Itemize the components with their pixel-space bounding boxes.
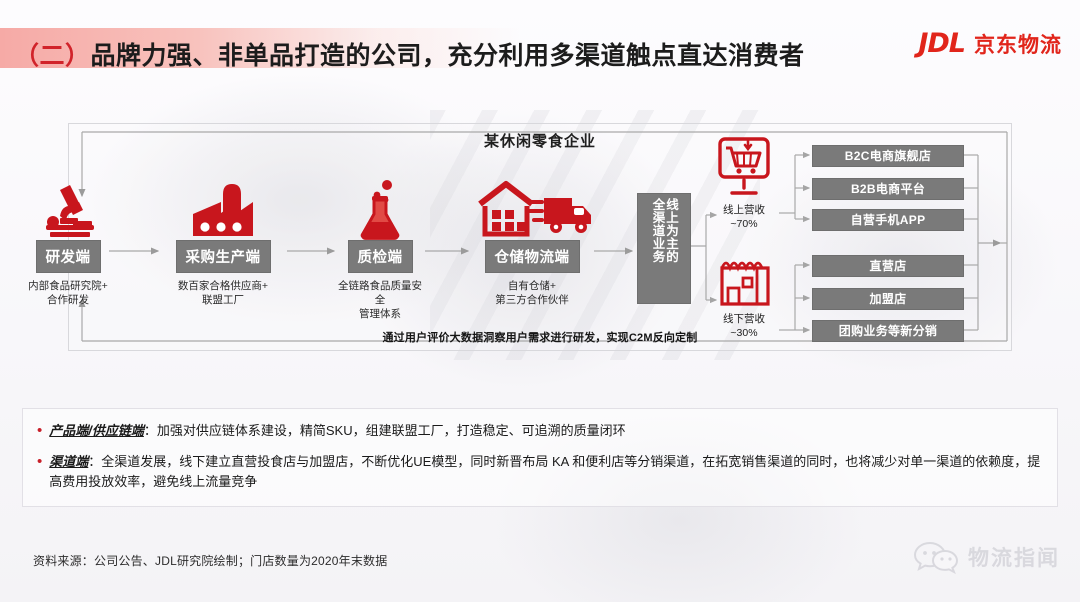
- channel-box-b2b[interactable]: B2B电商平台: [812, 178, 964, 200]
- source-note: 资料来源：公司公告、JDL研究院绘制；门店数量为2020年末数据: [33, 552, 387, 569]
- page-title: （二）品牌力强、非单品打造的公司，充分利用多渠道触点直达消费者: [14, 36, 805, 72]
- stage-rd[interactable]: 研发端 内部食品研究院+ 合作研发: [14, 178, 122, 307]
- omnichannel-col-left: 全渠道业务: [651, 198, 664, 303]
- stage-rd-sub: 内部食品研究院+ 合作研发: [14, 279, 122, 307]
- stage-procurement-label: 采购生产端: [176, 240, 271, 273]
- page-title-text: 品牌力强、非单品打造的公司，充分利用多渠道触点直达消费者: [91, 42, 805, 70]
- channel-box-direct[interactable]: 直营店: [812, 255, 964, 277]
- bullet-body: ：加强对供应链体系建设，精简SKU，组建联盟工厂，打造稳定、可追溯的质量闭环: [144, 423, 626, 438]
- warehouse-truck-icon: [468, 174, 596, 240]
- factory-icon: [158, 178, 288, 240]
- watermark: 物流指闻: [913, 540, 1060, 574]
- bullet-item: • 产品端/供应链端：加强对供应链体系建设，精简SKU，组建联盟工厂，打造稳定、…: [37, 421, 1043, 441]
- bullet-lead: 产品端/供应链端: [49, 423, 144, 438]
- bullet-lead: 渠道端: [49, 454, 88, 469]
- stage-procurement-sub: 数百家合格供应商+ 联盟工厂: [158, 279, 288, 307]
- channel-box-franchise[interactable]: 加盟店: [812, 288, 964, 310]
- bullet-body: ：全渠道发展，线下建立直营投食店与加盟店，不断优化UE模型，同时新晋布局 KA …: [49, 454, 1040, 489]
- flask-icon: [334, 178, 426, 240]
- jdl-logo-name: 京东物流: [974, 29, 1062, 59]
- bullet-dot-icon: •: [37, 421, 42, 441]
- stage-rd-label: 研发端: [36, 240, 101, 273]
- stage-qc[interactable]: 质检端 全链路食品质量安全 管理体系: [334, 178, 426, 322]
- stage-logistics-label: 仓储物流端: [485, 240, 580, 273]
- omnichannel-col-right: 线上为主的: [665, 198, 678, 303]
- online-cart-monitor-icon: [714, 136, 774, 203]
- stage-logistics-sub: 自有仓储+ 第三方合作伙伴: [468, 279, 596, 307]
- microscope-icon: [14, 178, 122, 240]
- insights-panel: • 产品端/供应链端：加强对供应链体系建设，精简SKU，组建联盟工厂，打造稳定、…: [22, 408, 1058, 507]
- bullet-text: 产品端/供应链端：加强对供应链体系建设，精简SKU，组建联盟工厂，打造稳定、可追…: [49, 421, 625, 441]
- online-revenue-label: 线上营收 ~70%: [707, 203, 781, 231]
- bullet-dot-icon: •: [37, 452, 42, 492]
- online-revenue-text: 线上营收: [707, 203, 781, 217]
- omnichannel-block[interactable]: 线上为主的 全渠道业务: [637, 193, 691, 304]
- bullet-item: • 渠道端：全渠道发展，线下建立直营投食店与加盟店，不断优化UE模型，同时新晋布…: [37, 452, 1043, 492]
- jdl-logo-mark: JDL: [918, 28, 965, 59]
- channel-box-b2c[interactable]: B2C电商旗舰店: [812, 145, 964, 167]
- online-revenue-value: ~70%: [707, 217, 781, 231]
- jdl-logo: JDL 京东物流: [918, 28, 1062, 59]
- watermark-text: 物流指闻: [968, 542, 1060, 572]
- wechat-icon: [913, 540, 959, 574]
- stage-procurement[interactable]: 采购生产端 数百家合格供应商+ 联盟工厂: [158, 178, 288, 307]
- page-title-number: （二）: [14, 42, 91, 70]
- stage-qc-label: 质检端: [348, 240, 413, 273]
- channel-box-app[interactable]: 自营手机APP: [812, 209, 964, 231]
- bullet-text: 渠道端：全渠道发展，线下建立直营投食店与加盟店，不断优化UE模型，同时新晋布局 …: [49, 452, 1043, 492]
- stage-logistics[interactable]: 仓储物流端 自有仓储+ 第三方合作伙伴: [468, 174, 596, 307]
- offline-revenue-text: 线下营收: [707, 312, 781, 326]
- diagram-caption: 通过用户评价大数据洞察用户需求进行研发，实现C2M反向定制: [0, 329, 1080, 345]
- storefront-icon: [717, 252, 773, 313]
- stage-qc-sub: 全链路食品质量安全 管理体系: [334, 279, 426, 322]
